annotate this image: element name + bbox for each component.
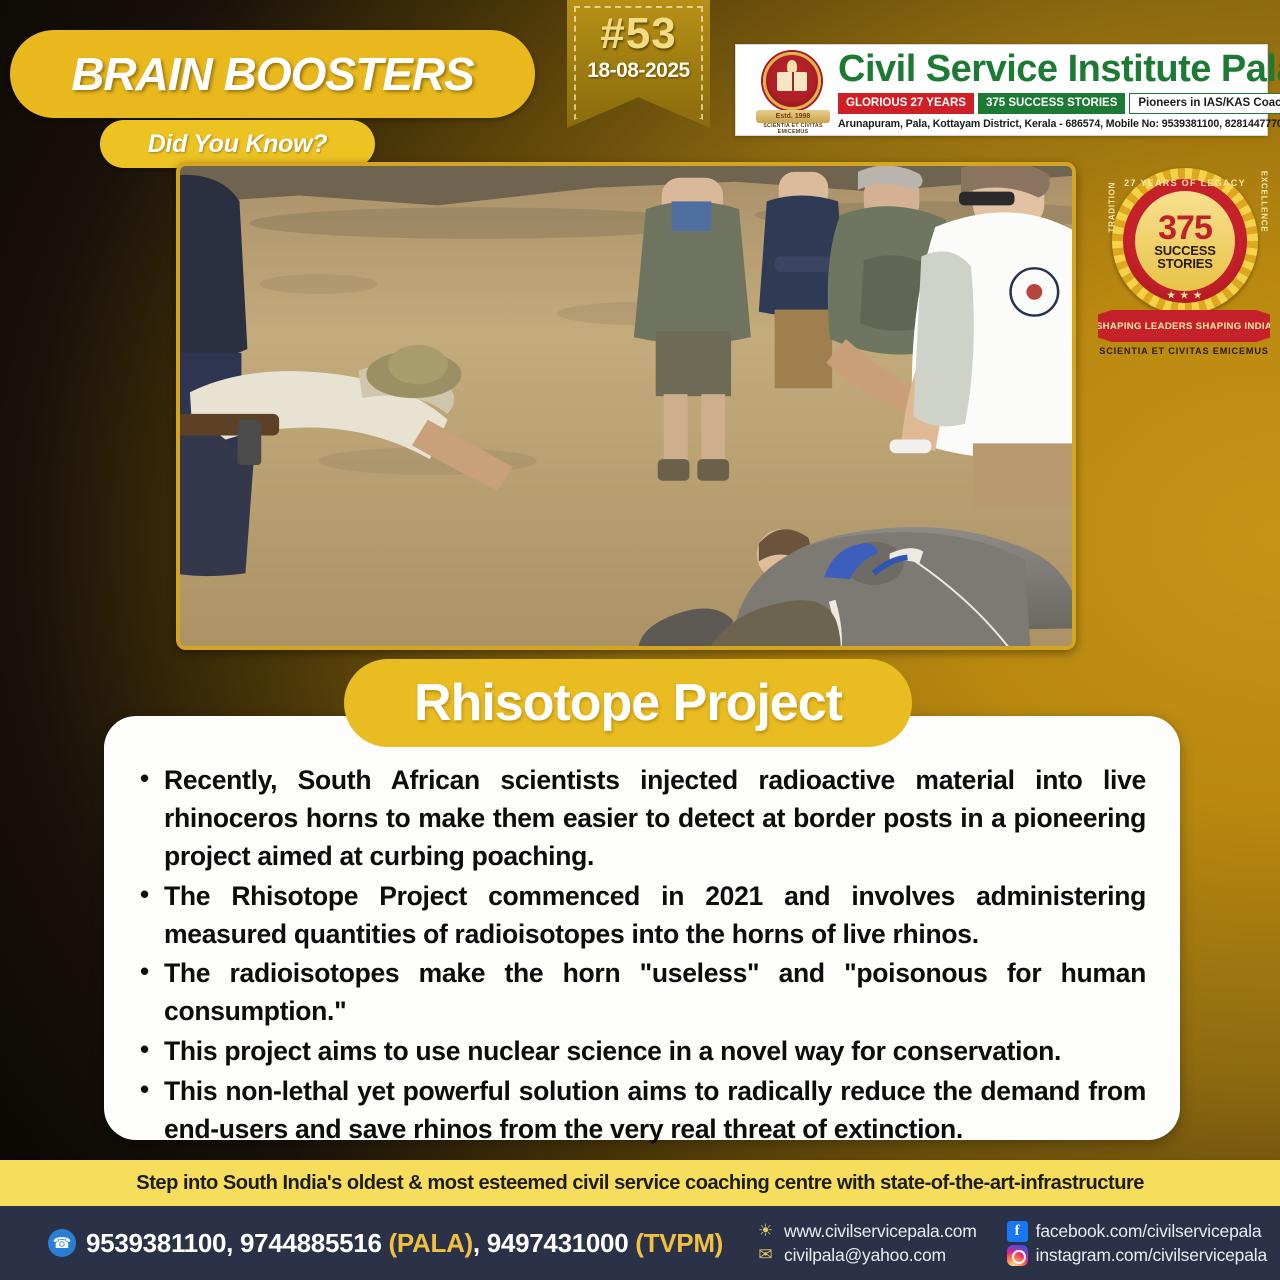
website-row[interactable]: ☀ www.civilservicepala.com <box>755 1221 977 1242</box>
badge-inner: 375 SUCCESS STORIES <box>1135 191 1235 291</box>
institute-address: Arunapuram, Pala, Kottayam District, Ker… <box>838 118 1280 130</box>
badge-motto: SCIENTIA ET CIVITAS EMICEMUS <box>1098 346 1270 356</box>
instagram-row[interactable]: instagram.com/civilservicepala <box>1007 1245 1267 1266</box>
legacy-badge: 375 SUCCESS STORIES 27 YEARS OF LEGACY ★… <box>1098 168 1270 368</box>
phone-numbers: 9539381100, 9744885516 (PALA), 949743100… <box>86 1228 723 1259</box>
institute-logo-bar: Estd. 1998 SCIENTIA ET CIVITAS EMICEMUS … <box>735 44 1268 136</box>
tagline-text: Step into South India's oldest & most es… <box>136 1171 1144 1195</box>
contact-bar: ☎ 9539381100, 9744885516 (PALA), 9497431… <box>0 1206 1280 1280</box>
badge-caption-2: STORIES <box>1157 257 1212 270</box>
phone-mid: , 9497431000 <box>473 1228 635 1258</box>
phone-loc-pala: (PALA) <box>389 1228 473 1258</box>
badge-arc-top: 27 YEARS OF LEGACY <box>1112 178 1258 188</box>
seal-estd-label: Estd. 1998 <box>754 110 832 123</box>
envelope-icon: ✉ <box>755 1245 776 1266</box>
institute-name: Civil Service Institute Pala <box>838 50 1280 88</box>
badge-arc-right: EXCELLENCE <box>1260 171 1269 233</box>
logo-text-block: Civil Service Institute Pala GLORIOUS 27… <box>832 50 1280 129</box>
email-text: civilpala@yahoo.com <box>784 1245 946 1266</box>
facebook-text: facebook.com/civilservicepala <box>1036 1221 1262 1242</box>
chip-success-stories: 375 SUCCESS STORIES <box>978 93 1125 113</box>
web-group: ☀ www.civilservicepala.com ✉ civilpala@y… <box>755 1221 977 1266</box>
content-card: Recently, South African scientists injec… <box>104 716 1180 1140</box>
logo-chip-row: GLORIOUS 27 YEARS 375 SUCCESS STORIES Pi… <box>838 93 1280 113</box>
chip-glorious-years: GLORIOUS 27 YEARS <box>838 93 974 113</box>
facebook-icon: f <box>1007 1221 1028 1242</box>
list-item: This non-lethal yet powerful solution ai… <box>130 1073 1146 1149</box>
badge-caption-1: SUCCESS <box>1154 244 1215 257</box>
facebook-row[interactable]: f facebook.com/civilservicepala <box>1007 1221 1267 1242</box>
list-item: The Rhisotope Project commenced in 2021 … <box>130 878 1146 954</box>
badge-band-text: SHAPING LEADERS SHAPING INDIA <box>1096 321 1272 332</box>
poster-root: BRAIN BOOSTERS Did You Know? #53 18-08-2… <box>0 0 1280 1280</box>
issue-number: #53 <box>600 12 676 56</box>
phone-group: ☎ 9539381100, 9744885516 (PALA), 9497431… <box>48 1228 723 1259</box>
news-photo: RHISOTOPE PROJECT <box>176 162 1076 650</box>
badge-number: 375 <box>1158 212 1212 244</box>
phone-icon: ☎ <box>48 1229 76 1257</box>
list-item: The radioisotopes make the horn "useless… <box>130 955 1146 1031</box>
badge-arc-bottom: ★ ★ ★ <box>1112 290 1258 301</box>
list-item: This project aims to use nuclear science… <box>130 1033 1146 1071</box>
seal-motto-label: SCIENTIA ET CIVITAS EMICEMUS <box>750 123 836 135</box>
tagline-strip: Step into South India's oldest & most es… <box>0 1160 1280 1206</box>
issue-ribbon: #53 18-08-2025 <box>567 0 710 128</box>
website-text: www.civilservicepala.com <box>784 1221 977 1242</box>
bystander-sweater <box>913 251 973 426</box>
did-you-know-label: Did You Know? <box>148 130 327 159</box>
email-row[interactable]: ✉ civilpala@yahoo.com <box>755 1245 977 1266</box>
chip-pioneers: Pioneers in IAS/KAS Coaching <box>1129 93 1280 113</box>
brain-boosters-label: BRAIN BOOSTERS <box>71 47 474 101</box>
brain-boosters-banner: BRAIN BOOSTERS <box>10 30 535 118</box>
phone-loc-tvpm: (TVPM) <box>635 1228 723 1258</box>
news-photo-graphic: RHISOTOPE PROJECT <box>180 166 1072 646</box>
instagram-text: instagram.com/civilservicepala <box>1036 1245 1267 1266</box>
instagram-icon <box>1007 1245 1028 1266</box>
bullet-list: Recently, South African scientists injec… <box>130 762 1146 1149</box>
list-item: Recently, South African scientists injec… <box>130 762 1146 876</box>
did-you-know-pill: Did You Know? <box>100 120 375 168</box>
issue-date: 18-08-2025 <box>587 60 689 81</box>
badge-arc-left: TRADITION <box>1108 182 1117 233</box>
article-title-pill: Rhisotope Project <box>344 659 912 747</box>
institute-seal-icon: Estd. 1998 SCIENTIA ET CIVITAS EMICEMUS <box>754 50 832 130</box>
badge-ribbon-band: SHAPING LEADERS SHAPING INDIA <box>1098 310 1270 342</box>
globe-icon: ☀ <box>755 1221 776 1242</box>
social-group: f facebook.com/civilservicepala instagra… <box>1007 1221 1267 1266</box>
page-title: Rhisotope Project <box>414 673 842 733</box>
phone-main: 9539381100, 9744885516 <box>86 1228 389 1258</box>
